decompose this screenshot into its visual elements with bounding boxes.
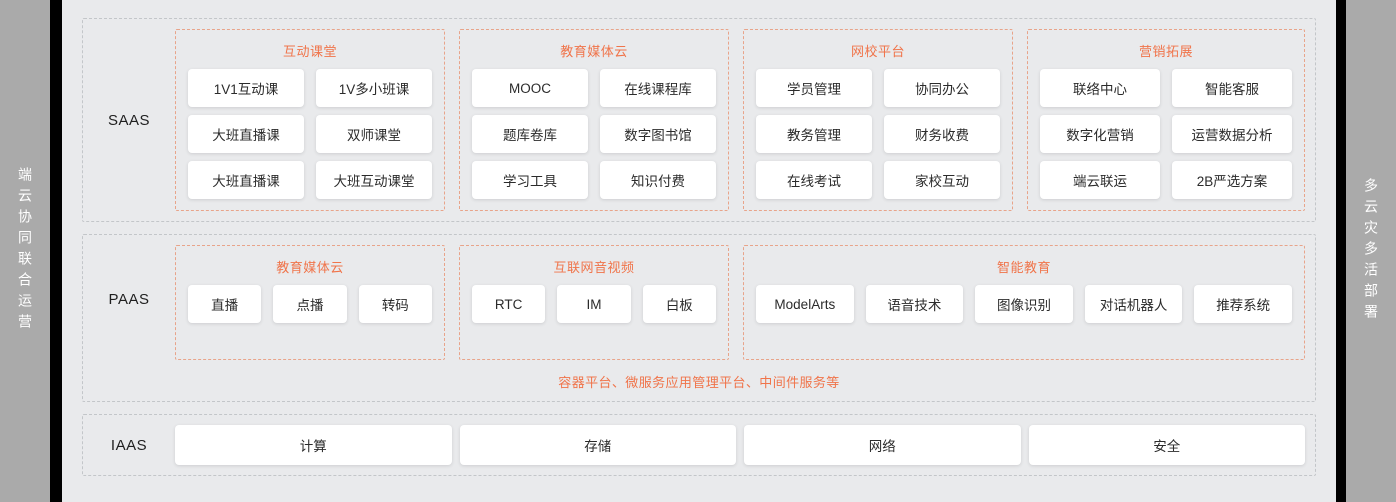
tile[interactable]: 大班直播课 (188, 161, 304, 199)
layer-paas-label: PAAS (83, 235, 175, 364)
tile[interactable]: MOOC (472, 69, 588, 107)
tile[interactable]: RTC (472, 285, 545, 323)
group-title: 智能教育 (997, 257, 1051, 276)
tile[interactable]: 大班直播课 (188, 115, 304, 153)
tile[interactable]: 白板 (643, 285, 716, 323)
tile[interactable]: 双师课堂 (316, 115, 432, 153)
architecture-diagram: 端云协同联合运营 SAAS 互动课堂 1V1互动课 1V多小班课 大班直播课 双… (0, 0, 1396, 502)
tile[interactable]: 网络 (744, 425, 1021, 465)
tile[interactable]: 题库卷库 (472, 115, 588, 153)
tile[interactable]: 财务收费 (884, 115, 1000, 153)
left-rail: 端云协同联合运营 (0, 0, 50, 502)
group-marketing-expansion: 营销拓展 联络中心 智能客服 数字化营销 运营数据分析 端云联运 2B严选方案 (1027, 29, 1305, 211)
group-online-school-platform: 网校平台 学员管理 协同办公 教务管理 财务收费 在线考试 家校互动 (743, 29, 1013, 211)
right-rail: 多云灾多活部署 (1346, 0, 1396, 502)
right-rail-label: 多云灾多活部署 (1364, 178, 1378, 325)
tile[interactable]: IM (557, 285, 630, 323)
layer-iaas: IAAS 计算 存储 网络 安全 (82, 414, 1316, 476)
tile[interactable]: 1V多小班课 (316, 69, 432, 107)
left-rail-label: 端云协同联合运营 (18, 167, 32, 335)
tile[interactable]: 运营数据分析 (1172, 115, 1292, 153)
group-title: 互动课堂 (283, 41, 337, 60)
group-education-media-cloud: 教育媒体云 MOOC 在线课程库 题库卷库 数字图书馆 学习工具 知识付费 (459, 29, 729, 211)
tile[interactable]: 家校互动 (884, 161, 1000, 199)
group-tiles: RTC IM 白板 (472, 285, 716, 323)
tile[interactable]: 语音技术 (866, 285, 964, 323)
layer-paas-row: PAAS 教育媒体云 直播 点播 转码 互联网音视频 RTC (83, 235, 1315, 364)
group-tiles: ModelArts 语音技术 图像识别 对话机器人 推荐系统 (756, 285, 1292, 323)
tile[interactable]: 点播 (273, 285, 346, 323)
left-rail-divider (50, 0, 62, 502)
tile[interactable]: 在线考试 (756, 161, 872, 199)
tile[interactable]: 安全 (1029, 425, 1306, 465)
tile[interactable]: 智能客服 (1172, 69, 1292, 107)
layer-paas-body: 教育媒体云 直播 点播 转码 互联网音视频 RTC IM 白板 (175, 235, 1315, 364)
paas-footnote: 容器平台、微服务应用管理平台、中间件服务等 (83, 364, 1315, 401)
tile[interactable]: 对话机器人 (1085, 285, 1183, 323)
tile[interactable]: 计算 (175, 425, 452, 465)
tile[interactable]: 2B严选方案 (1172, 161, 1292, 199)
group-tiles: 直播 点播 转码 (188, 285, 432, 323)
layer-iaas-body: 计算 存储 网络 安全 (175, 425, 1315, 465)
tile[interactable]: 在线课程库 (600, 69, 716, 107)
tile[interactable]: 知识付费 (600, 161, 716, 199)
layer-iaas-label: IAAS (83, 437, 175, 454)
group-title: 教育媒体云 (276, 257, 344, 276)
tile[interactable]: 教务管理 (756, 115, 872, 153)
layer-saas: SAAS 互动课堂 1V1互动课 1V多小班课 大班直播课 双师课堂 大班直播课… (82, 18, 1316, 222)
group-paas-education-media-cloud: 教育媒体云 直播 点播 转码 (175, 245, 445, 360)
tile[interactable]: 转码 (359, 285, 432, 323)
tile[interactable]: 学习工具 (472, 161, 588, 199)
tile[interactable]: ModelArts (756, 285, 854, 323)
layer-stack: SAAS 互动课堂 1V1互动课 1V多小班课 大班直播课 双师课堂 大班直播课… (62, 0, 1336, 502)
group-tiles: MOOC 在线课程库 题库卷库 数字图书馆 学习工具 知识付费 (472, 69, 716, 199)
tile[interactable]: 协同办公 (884, 69, 1000, 107)
group-title: 教育媒体云 (560, 41, 628, 60)
tile[interactable]: 数字化营销 (1040, 115, 1160, 153)
group-interactive-classroom: 互动课堂 1V1互动课 1V多小班课 大班直播课 双师课堂 大班直播课 大班互动… (175, 29, 445, 211)
tile[interactable]: 图像识别 (975, 285, 1073, 323)
group-title: 网校平台 (851, 41, 905, 60)
tile[interactable]: 联络中心 (1040, 69, 1160, 107)
tile[interactable]: 直播 (188, 285, 261, 323)
tile[interactable]: 存储 (460, 425, 737, 465)
group-tiles: 学员管理 协同办公 教务管理 财务收费 在线考试 家校互动 (756, 69, 1000, 199)
tile[interactable]: 大班互动课堂 (316, 161, 432, 199)
layer-saas-label: SAAS (83, 19, 175, 221)
layer-paas: PAAS 教育媒体云 直播 点播 转码 互联网音视频 RTC (82, 234, 1316, 402)
group-title: 营销拓展 (1139, 41, 1193, 60)
tile[interactable]: 数字图书馆 (600, 115, 716, 153)
tile[interactable]: 1V1互动课 (188, 69, 304, 107)
group-title: 互联网音视频 (553, 257, 634, 276)
tile[interactable]: 学员管理 (756, 69, 872, 107)
group-tiles: 1V1互动课 1V多小班课 大班直播课 双师课堂 大班直播课 大班互动课堂 (188, 69, 432, 199)
tile[interactable]: 端云联运 (1040, 161, 1160, 199)
tile[interactable]: 推荐系统 (1194, 285, 1292, 323)
group-internet-audio-video: 互联网音视频 RTC IM 白板 (459, 245, 729, 360)
right-rail-divider (1336, 0, 1346, 502)
layer-saas-body: 互动课堂 1V1互动课 1V多小班课 大班直播课 双师课堂 大班直播课 大班互动… (175, 19, 1315, 221)
group-intelligent-education: 智能教育 ModelArts 语音技术 图像识别 对话机器人 推荐系统 (743, 245, 1305, 360)
group-tiles: 联络中心 智能客服 数字化营销 运营数据分析 端云联运 2B严选方案 (1040, 69, 1292, 199)
